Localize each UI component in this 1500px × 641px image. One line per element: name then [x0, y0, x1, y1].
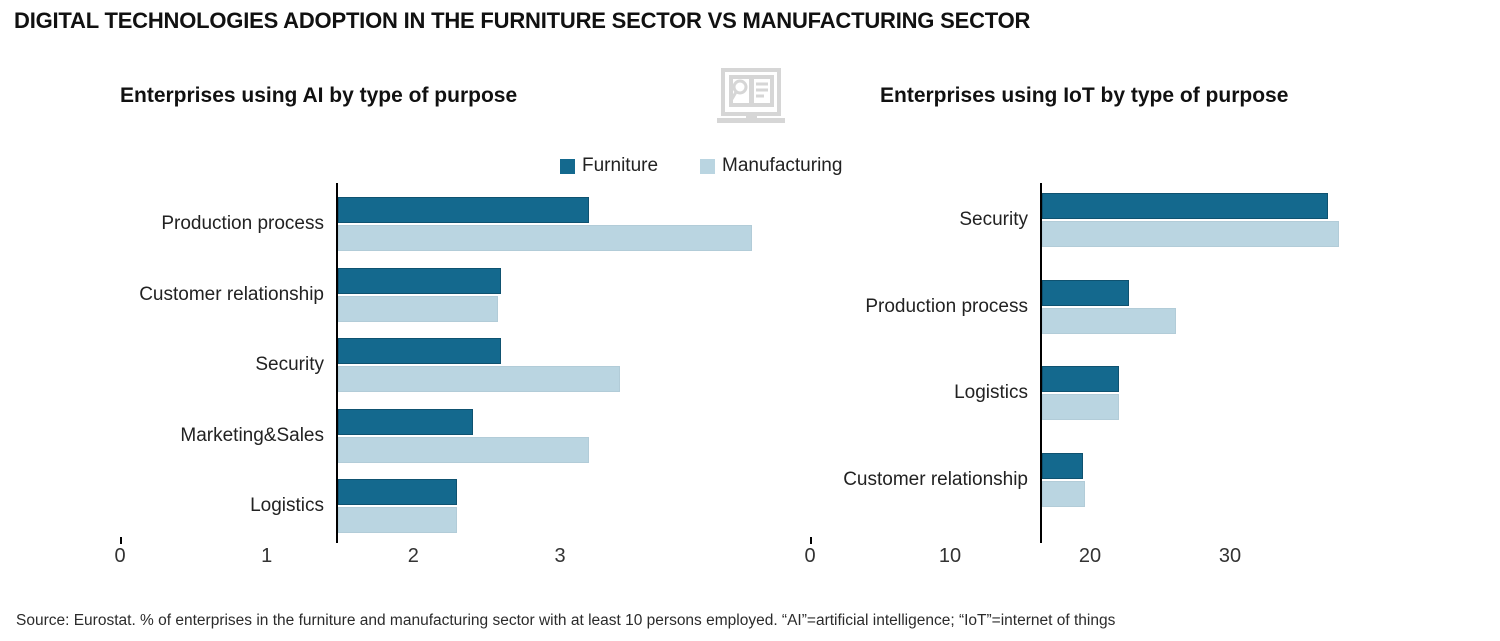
bar-manufacturing[interactable]: [1042, 221, 1339, 247]
legend-label-manufacturing: Manufacturing: [722, 155, 842, 177]
x-tick-label: 20: [1079, 545, 1101, 568]
bar-manufacturing[interactable]: [338, 437, 589, 463]
legend-swatch-furniture: [560, 159, 575, 174]
bar-manufacturing[interactable]: [338, 507, 457, 533]
bar-furniture[interactable]: [1042, 280, 1129, 306]
category-label: Logistics: [954, 382, 1028, 404]
x-tick-mark: [120, 537, 122, 544]
category-label: Production process: [865, 296, 1028, 318]
category-group: Logistics: [338, 479, 776, 533]
x-tick-label: 30: [1219, 545, 1241, 568]
category-label: Customer relationship: [843, 469, 1028, 491]
x-tick-label: 2: [408, 545, 419, 568]
plot-area-iot: SecurityProduction processLogisticsCusto…: [1040, 183, 1460, 543]
category-label: Marketing&Sales: [180, 425, 324, 447]
bar-furniture[interactable]: [338, 197, 589, 223]
bar-manufacturing[interactable]: [1042, 308, 1176, 334]
category-group: Production process: [1042, 280, 1460, 334]
x-tick-label: 1: [261, 545, 272, 568]
chart-title-ai: Enterprises using AI by type of purpose: [120, 84, 517, 108]
research-book-magnifier-icon: [712, 66, 790, 128]
legend-label-furniture: Furniture: [582, 155, 658, 177]
bar-furniture[interactable]: [338, 409, 473, 435]
bar-furniture[interactable]: [338, 268, 501, 294]
chart-title-iot: Enterprises using IoT by type of purpose: [880, 84, 1288, 108]
chart-legend: Furniture Manufacturing: [560, 155, 842, 177]
category-group: Marketing&Sales: [338, 409, 776, 463]
source-note: Source: Eurostat. % of enterprises in th…: [16, 612, 1115, 630]
bar-manufacturing[interactable]: [1042, 394, 1119, 420]
chart-panel-iot: SecurityProduction processLogisticsCusto…: [810, 183, 1470, 543]
category-label: Security: [255, 354, 324, 376]
category-group: Customer relationship: [338, 268, 776, 322]
bar-furniture[interactable]: [1042, 453, 1083, 479]
x-tick-label: 10: [939, 545, 961, 568]
bar-manufacturing[interactable]: [1042, 481, 1085, 507]
category-group: Security: [338, 338, 776, 392]
page-title: DIGITAL TECHNOLOGIES ADOPTION IN THE FUR…: [14, 8, 1030, 34]
x-tick-label: 0: [114, 545, 125, 568]
category-group: Security: [1042, 193, 1460, 247]
category-label: Customer relationship: [139, 284, 324, 306]
bar-furniture[interactable]: [1042, 366, 1119, 392]
x-tick-mark: [810, 537, 812, 544]
legend-item-furniture[interactable]: Furniture: [560, 155, 658, 177]
category-group: Production process: [338, 197, 776, 251]
plot-area-ai: Production processCustomer relationshipS…: [336, 183, 776, 543]
bar-furniture[interactable]: [338, 338, 501, 364]
x-tick-label: 3: [554, 545, 565, 568]
category-label: Security: [959, 209, 1028, 231]
chart-panel-ai: Production processCustomer relationshipS…: [120, 183, 780, 543]
category-group: Customer relationship: [1042, 453, 1460, 507]
category-label: Production process: [161, 213, 324, 235]
legend-item-manufacturing[interactable]: Manufacturing: [700, 155, 842, 177]
bar-furniture[interactable]: [1042, 193, 1328, 219]
bar-furniture[interactable]: [338, 479, 457, 505]
category-group: Logistics: [1042, 366, 1460, 420]
x-tick-label: 0: [804, 545, 815, 568]
bar-manufacturing[interactable]: [338, 366, 620, 392]
category-label: Logistics: [250, 495, 324, 517]
bar-manufacturing[interactable]: [338, 225, 752, 251]
x-axis-iot: 0102030: [810, 543, 1470, 583]
x-axis-ai: 0123: [120, 543, 780, 583]
bar-manufacturing[interactable]: [338, 296, 498, 322]
legend-swatch-manufacturing: [700, 159, 715, 174]
